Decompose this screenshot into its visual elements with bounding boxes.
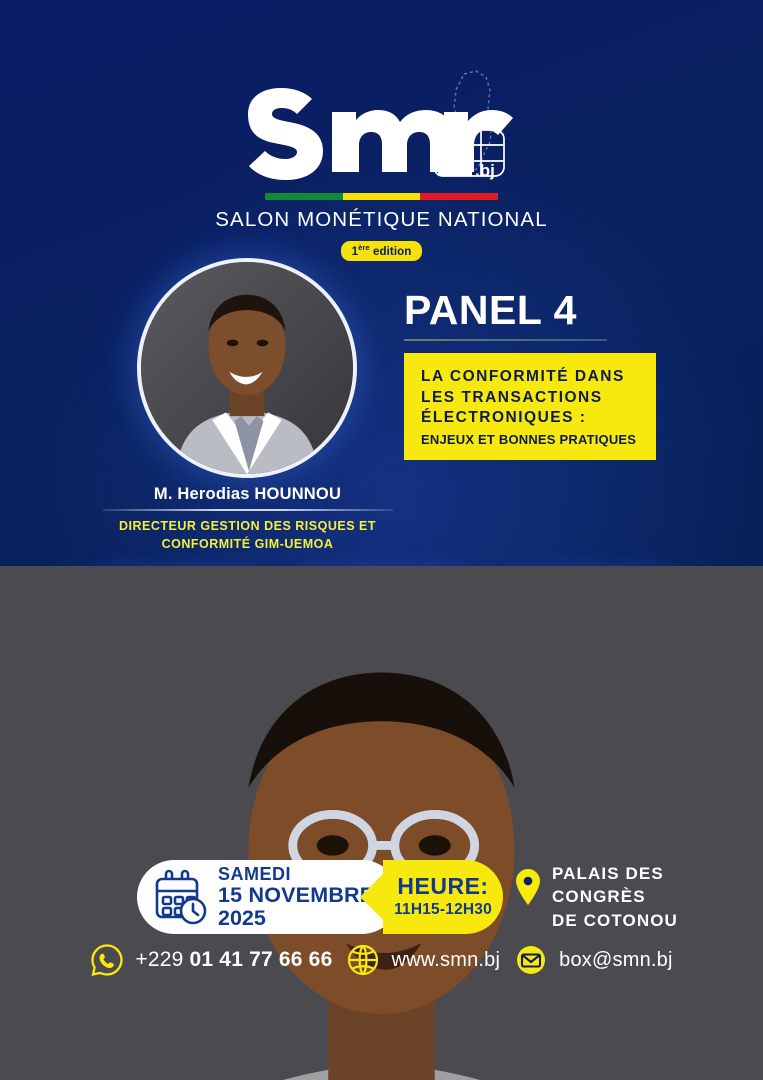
- tricolor-red: [420, 193, 498, 200]
- topic-line-4: ENJEUX ET BONNES PRATIQUES: [421, 432, 642, 447]
- venue-line-3: DE COTONOU: [552, 909, 678, 932]
- event-year: 2025: [218, 907, 374, 930]
- logo-subtitle: SALON MONÉTIQUE NATIONAL: [0, 208, 763, 232]
- benin-tricolor-bar: [265, 193, 498, 200]
- moderator-divider: [103, 509, 393, 511]
- speaker-photo: [505, 566, 677, 738]
- moderator-photo: [137, 258, 357, 478]
- calendar-clock-icon: [151, 868, 209, 926]
- hero-section: PANEL 4 LA CONFORMITÉ DANS LES TRANSACTI…: [0, 250, 763, 500]
- date-text: SAMEDI 15 NOVEMBRE 2025: [218, 865, 374, 930]
- venue-line-2: CONGRÈS: [552, 885, 678, 908]
- poster-root: { "logo": { "wordmark": "smn", "domain_s…: [0, 0, 763, 1080]
- time-pill: HEURE: 11H15-12H30: [383, 860, 503, 934]
- logo-block: .bj SALON MONÉTIQUE NATIONAL 1ère editio…: [0, 68, 763, 261]
- moderator-role-line-1: DIRECTEUR GESTION DES RISQUES ET: [60, 517, 435, 536]
- envelope-icon: [514, 943, 548, 977]
- panel-column: PANEL 4 LA CONFORMITÉ DANS LES TRANSACTI…: [404, 290, 704, 460]
- contact-email[interactable]: box@smn.bj: [514, 943, 672, 977]
- panel-divider: [404, 339, 607, 341]
- event-day-of-week: SAMEDI: [218, 865, 374, 884]
- svg-text:.bj: .bj: [475, 161, 495, 180]
- topic-line-2: LES TRANSACTIONS: [421, 388, 642, 409]
- speakers-row: M. KOUHO Fanck DIRECTEUR DE LA CONFORMIT…: [0, 566, 763, 839]
- contact-phone[interactable]: +229 01 41 77 66 66: [90, 943, 332, 977]
- globe-icon: [346, 943, 380, 977]
- time-label: HEURE:: [397, 875, 488, 898]
- phone-number: 01 41 77 66 66: [190, 948, 333, 971]
- moderator-caption: M. Herodias HOUNNOU DIRECTEUR GESTION DE…: [60, 485, 435, 554]
- moderator-name: M. Herodias HOUNNOU: [60, 485, 435, 504]
- event-date: 15 NOVEMBRE: [218, 884, 374, 907]
- speaker-card: Mick Loko DIRECTEUR DE LA CONFORMITÉ ECO…: [505, 566, 677, 839]
- tricolor-yellow: [343, 193, 421, 200]
- smn-logo-mark: .bj: [232, 68, 532, 184]
- venue-text: PALAIS DES CONGRÈS DE COTONOU: [552, 862, 678, 932]
- moderator-role: DIRECTEUR GESTION DES RISQUES ET CONFORM…: [60, 517, 435, 555]
- venue-line-1: PALAIS DES: [552, 862, 678, 885]
- panel-topic-box: LA CONFORMITÉ DANS LES TRANSACTIONS ÉLEC…: [404, 353, 656, 460]
- website-text: www.smn.bj: [391, 949, 500, 972]
- email-text: box@smn.bj: [559, 949, 672, 972]
- venue-block: PALAIS DES CONGRÈS DE COTONOU: [515, 862, 678, 932]
- contact-bar: +229 01 41 77 66 66 www.smn.bj: [0, 943, 763, 977]
- topic-line-3: ÉLECTRONIQUES :: [421, 408, 642, 429]
- panel-title: PANEL 4: [404, 290, 704, 331]
- time-value: 11H15-12H30: [394, 901, 492, 919]
- tricolor-green: [265, 193, 343, 200]
- phone-prefix: +229: [135, 948, 189, 971]
- moderator-role-line-2: CONFORMITÉ GIM-UEMOA: [60, 535, 435, 554]
- event-details-bar: SAMEDI 15 NOVEMBRE 2025 HEURE: 11H15-12H…: [0, 856, 763, 938]
- topic-line-1: LA CONFORMITÉ DANS: [421, 367, 642, 388]
- phone-text: +229 01 41 77 66 66: [135, 948, 332, 972]
- whatsapp-icon: [90, 943, 124, 977]
- map-pin-icon: [515, 868, 541, 906]
- contact-website[interactable]: www.smn.bj: [346, 943, 500, 977]
